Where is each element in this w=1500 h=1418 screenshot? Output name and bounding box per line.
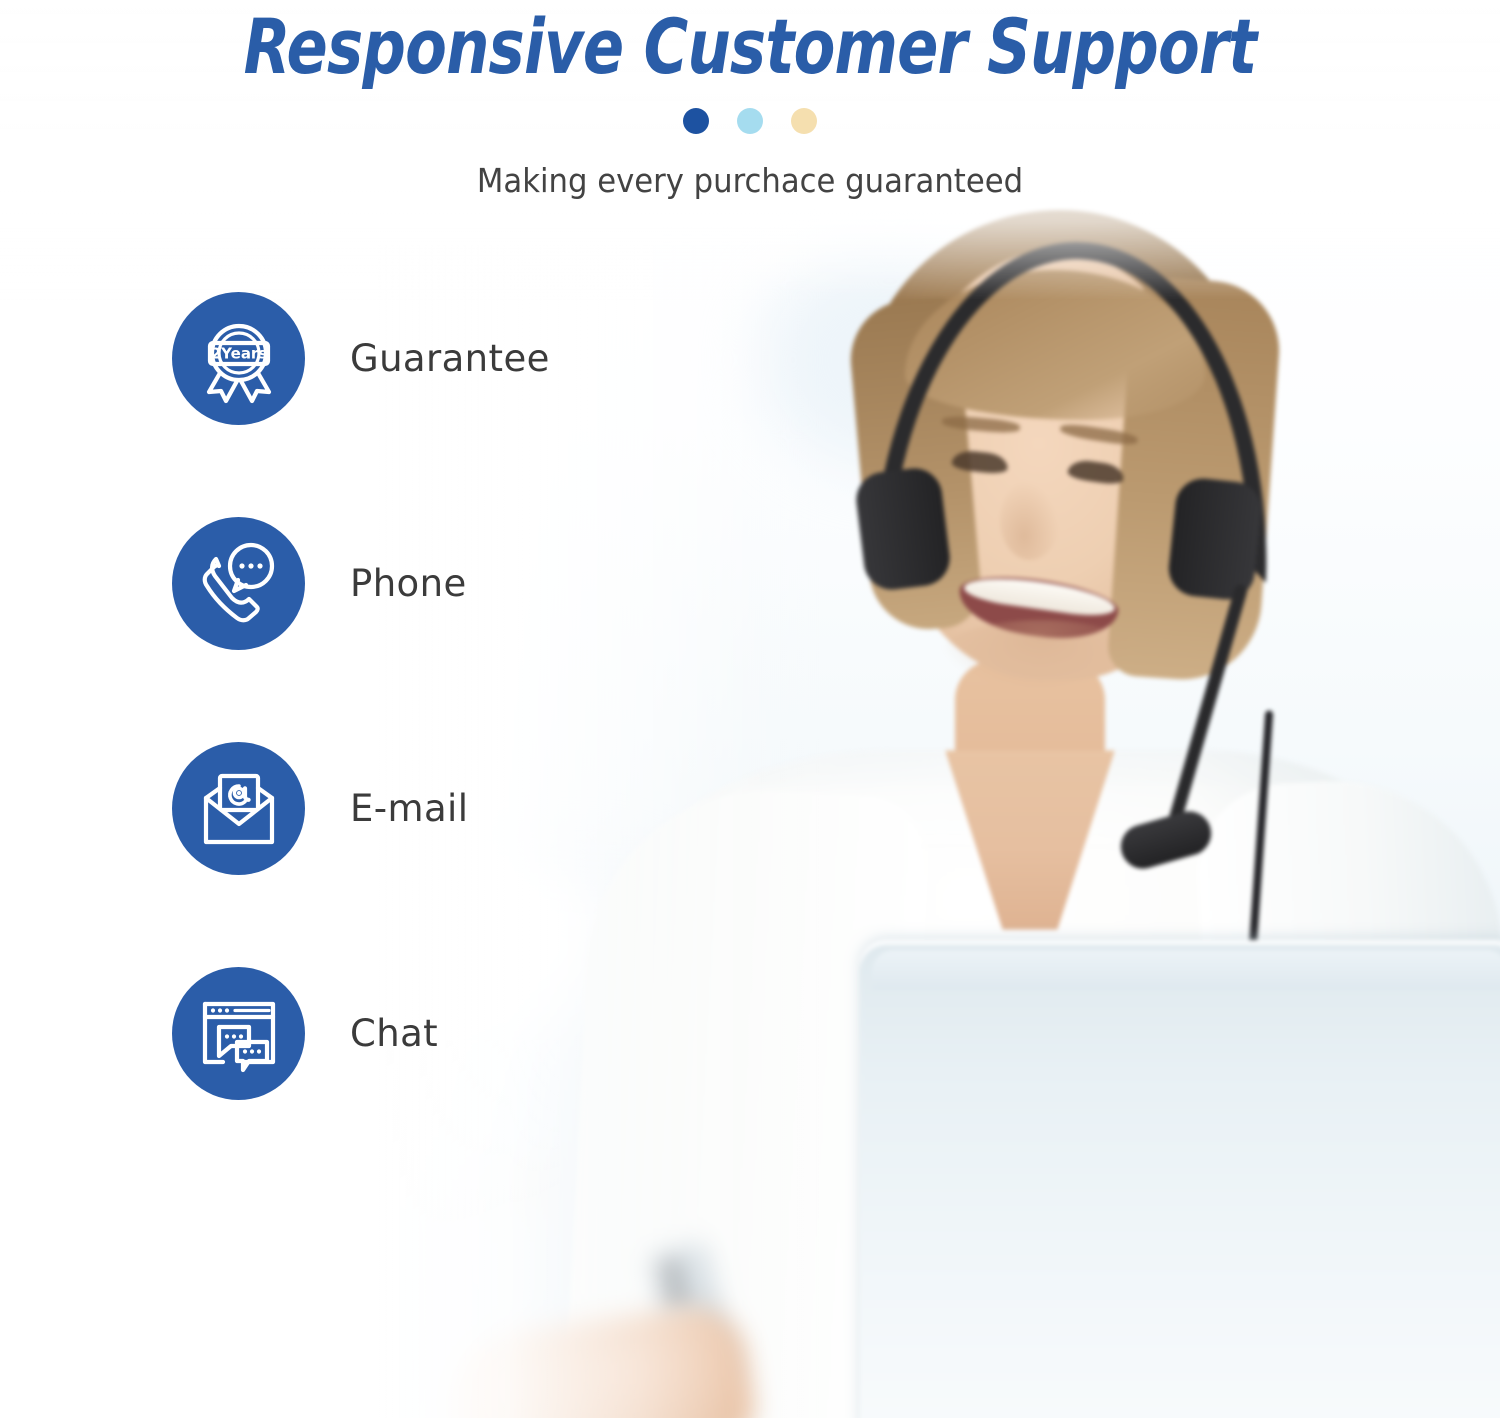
- svg-text:2Years: 2Years: [210, 344, 267, 362]
- support-banner: Responsive Customer Support Making every…: [0, 0, 1500, 1418]
- phone-chat-icon: [194, 539, 284, 629]
- feature-label-guarantee: Guarantee: [350, 337, 550, 380]
- guarantee-icon-circle: 2Years: [172, 292, 305, 425]
- banner-content: Responsive Customer Support Making every…: [0, 0, 1500, 1418]
- dot-sand: [791, 108, 817, 134]
- email-icon-circle: [172, 742, 305, 875]
- feature-item-guarantee: 2Years Guarantee: [172, 292, 772, 425]
- feature-label-chat: Chat: [350, 1012, 438, 1055]
- page-subtitle: Making every purchace guaranteed: [53, 161, 1448, 200]
- page-title: Responsive Customer Support: [150, 2, 1350, 91]
- support-feature-list: 2Years Guarantee: [172, 292, 772, 1100]
- dot-dark-blue: [683, 108, 709, 134]
- chat-icon-circle: [172, 967, 305, 1100]
- decorative-dots: [0, 108, 1500, 134]
- browser-chat-bubbles-icon: [195, 990, 283, 1078]
- dot-light-blue: [737, 108, 763, 134]
- feature-item-chat: Chat: [172, 967, 772, 1100]
- phone-icon-circle: [172, 517, 305, 650]
- feature-item-phone: Phone: [172, 517, 772, 650]
- feature-item-email: E-mail: [172, 742, 772, 875]
- envelope-at-icon: [194, 764, 284, 854]
- feature-label-email: E-mail: [350, 787, 468, 830]
- feature-label-phone: Phone: [350, 562, 467, 605]
- badge-ribbon-icon: 2Years: [193, 313, 285, 405]
